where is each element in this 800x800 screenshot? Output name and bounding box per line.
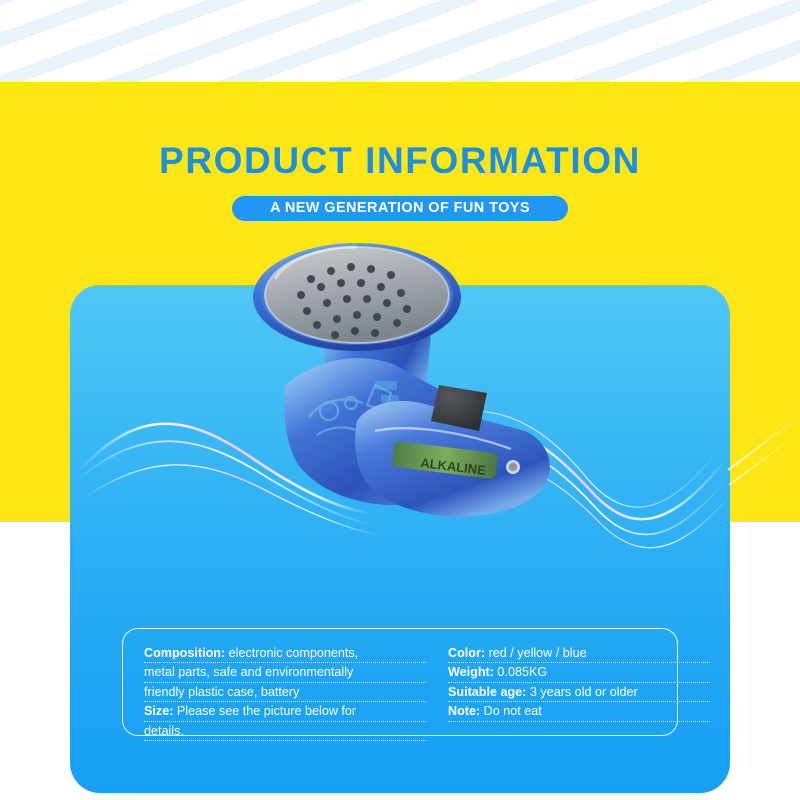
top-stripe-band [0, 0, 800, 82]
spec-row-note: Note: Do not eat [448, 702, 710, 721]
specs-column-left: Composition: electronic components, meta… [144, 644, 426, 744]
spec-value-color: red / yellow / blue [485, 646, 587, 660]
spec-label-size: Size: [144, 704, 173, 718]
spec-label-weight: Weight: [448, 665, 494, 679]
spec-value-composition: electronic components, [225, 646, 358, 660]
spec-label-suitable-age: Suitable age: [448, 685, 526, 699]
spec-value-note: Do not eat [480, 704, 542, 718]
spec-label-note: Note: [448, 704, 480, 718]
spec-row-suitable-age: Suitable age: 3 years old or older [448, 683, 710, 702]
subtitle-badge: A NEW GENERATION OF FUN TOYS [232, 196, 568, 221]
spec-value-suitable-age: 3 years old or older [526, 685, 637, 699]
spec-value-composition-2: metal parts, safe and environmentally [144, 665, 353, 679]
specs-column-right: Color: red / yellow / blue Weight: 0.085… [448, 644, 710, 744]
spec-row-size: Size: Please see the picture below for [144, 702, 426, 721]
product-information-banner: PRODUCT INFORMATION A NEW GENERATION OF … [0, 0, 800, 800]
specs-columns: Composition: electronic components, meta… [144, 644, 724, 744]
spec-row-composition-cont-1: metal parts, safe and environmentally [144, 663, 426, 682]
spec-label-color: Color: [448, 646, 485, 660]
spec-value-size-2: details. [144, 724, 184, 738]
spec-value-composition-3: friendly plastic case, battery [144, 685, 299, 699]
spec-row-size-cont: details. [144, 722, 426, 741]
spec-row-color: Color: red / yellow / blue [448, 644, 710, 663]
product-image: ALKALINE [225, 235, 590, 540]
spec-value-size: Please see the picture below for [173, 704, 356, 718]
spec-row-composition-cont-2: friendly plastic case, battery [144, 683, 426, 702]
spec-label-composition: Composition: [144, 646, 225, 660]
spec-value-weight: 0.085KG [494, 665, 547, 679]
page-title: PRODUCT INFORMATION [0, 139, 800, 183]
spec-row-composition: Composition: electronic components, [144, 644, 426, 663]
spec-row-weight: Weight: 0.085KG [448, 663, 710, 682]
